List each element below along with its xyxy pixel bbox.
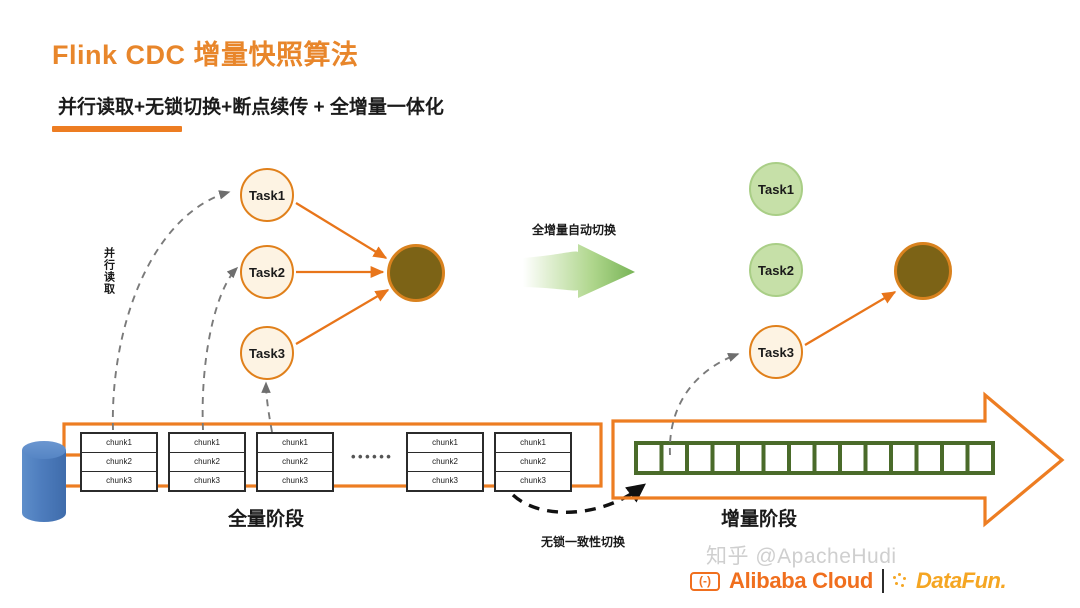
lockfree-switch-label: 无锁一致性切换 xyxy=(541,533,625,550)
task-node-label: Task3 xyxy=(249,346,285,361)
right-task3-to-hub-arrow xyxy=(805,292,895,345)
slide-canvas: Flink CDC 增量快照算法 并行读取+无锁切换+断点续传 + 全增量一体化 xyxy=(0,0,1080,608)
task-node-right-1[interactable]: Task1 xyxy=(749,162,803,216)
auto-switch-green-arrow xyxy=(523,244,635,298)
chunk-row: chunk3 xyxy=(258,472,332,490)
chunk-row: chunk2 xyxy=(258,453,332,472)
task-node-label: Task3 xyxy=(758,345,794,360)
task-node-right-3[interactable]: Task3 xyxy=(749,325,803,379)
chunk-ellipsis: •••••• xyxy=(351,449,393,464)
chunk-to-task2-arrow xyxy=(203,268,237,430)
chunk-to-task-arrows xyxy=(113,192,272,432)
chunk-row: chunk3 xyxy=(82,472,156,490)
task-node-label: Task2 xyxy=(249,265,285,280)
left-aggregator-node[interactable] xyxy=(387,244,445,302)
incremental-stage-container xyxy=(613,395,1062,524)
chunk-row: chunk1 xyxy=(170,434,244,453)
chunk-row: chunk1 xyxy=(496,434,570,453)
task-node-label: Task1 xyxy=(249,188,285,203)
page-subtitle: 并行读取+无锁切换+断点续传 + 全增量一体化 xyxy=(58,92,444,119)
chunk-group-4[interactable]: chunk1 chunk2 chunk3 xyxy=(406,432,484,492)
task-node-label: Task2 xyxy=(758,263,794,278)
chunk-row: chunk3 xyxy=(170,472,244,490)
task1-to-hub-arrow xyxy=(296,203,386,258)
incremental-stage-label: 增量阶段 xyxy=(721,504,797,531)
page-title: Flink CDC 增量快照算法 xyxy=(52,33,359,72)
task-node-left-2[interactable]: Task2 xyxy=(240,245,294,299)
chunk-row: chunk2 xyxy=(170,453,244,472)
footer-logo-bar: (-) Alibaba Cloud DataFun. xyxy=(690,568,1006,594)
alibaba-cloud-wordmark: Alibaba Cloud xyxy=(729,568,873,594)
logo-divider xyxy=(882,569,884,593)
chunk-row: chunk2 xyxy=(408,453,482,472)
binlog-cell-strip xyxy=(636,443,993,473)
auto-switch-label: 全增量自动切换 xyxy=(532,221,616,238)
full-stage-label: 全量阶段 xyxy=(228,504,304,531)
chunk-row: chunk1 xyxy=(408,434,482,453)
task3-to-hub-arrow xyxy=(296,290,388,344)
task-node-left-3[interactable]: Task3 xyxy=(240,326,294,380)
chunk-row: chunk3 xyxy=(496,472,570,490)
chunk-to-task1-arrow xyxy=(113,192,229,430)
binlog-to-task3-arrow xyxy=(670,354,738,455)
task-node-right-2[interactable]: Task2 xyxy=(749,243,803,297)
chunk-row: chunk1 xyxy=(258,434,332,453)
watermark-text: 知乎 @ApacheHudi xyxy=(706,540,897,570)
title-underline-rule xyxy=(52,126,182,132)
right-aggregator-node[interactable] xyxy=(894,242,952,300)
chunk-row: chunk2 xyxy=(496,453,570,472)
chunk-row: chunk2 xyxy=(82,453,156,472)
task-to-hub-arrows xyxy=(296,203,388,344)
chunk-row: chunk1 xyxy=(82,434,156,453)
chunk-row: chunk3 xyxy=(408,472,482,490)
task-node-left-1[interactable]: Task1 xyxy=(240,168,294,222)
datafun-dots-icon xyxy=(893,573,907,589)
alibaba-cloud-icon: (-) xyxy=(690,572,720,591)
chunk-group-5[interactable]: chunk1 chunk2 chunk3 xyxy=(494,432,572,492)
chunk-group-1[interactable]: chunk1 chunk2 chunk3 xyxy=(80,432,158,492)
chunk-group-2[interactable]: chunk1 chunk2 chunk3 xyxy=(168,432,246,492)
task-node-label: Task1 xyxy=(758,182,794,197)
datafun-wordmark: DataFun. xyxy=(916,568,1006,594)
chunk-group-3[interactable]: chunk1 chunk2 chunk3 xyxy=(256,432,334,492)
database-cylinder-icon xyxy=(22,441,80,522)
chunk-to-task3-arrow xyxy=(266,383,272,432)
parallel-read-label: 并行读取 xyxy=(102,247,114,295)
